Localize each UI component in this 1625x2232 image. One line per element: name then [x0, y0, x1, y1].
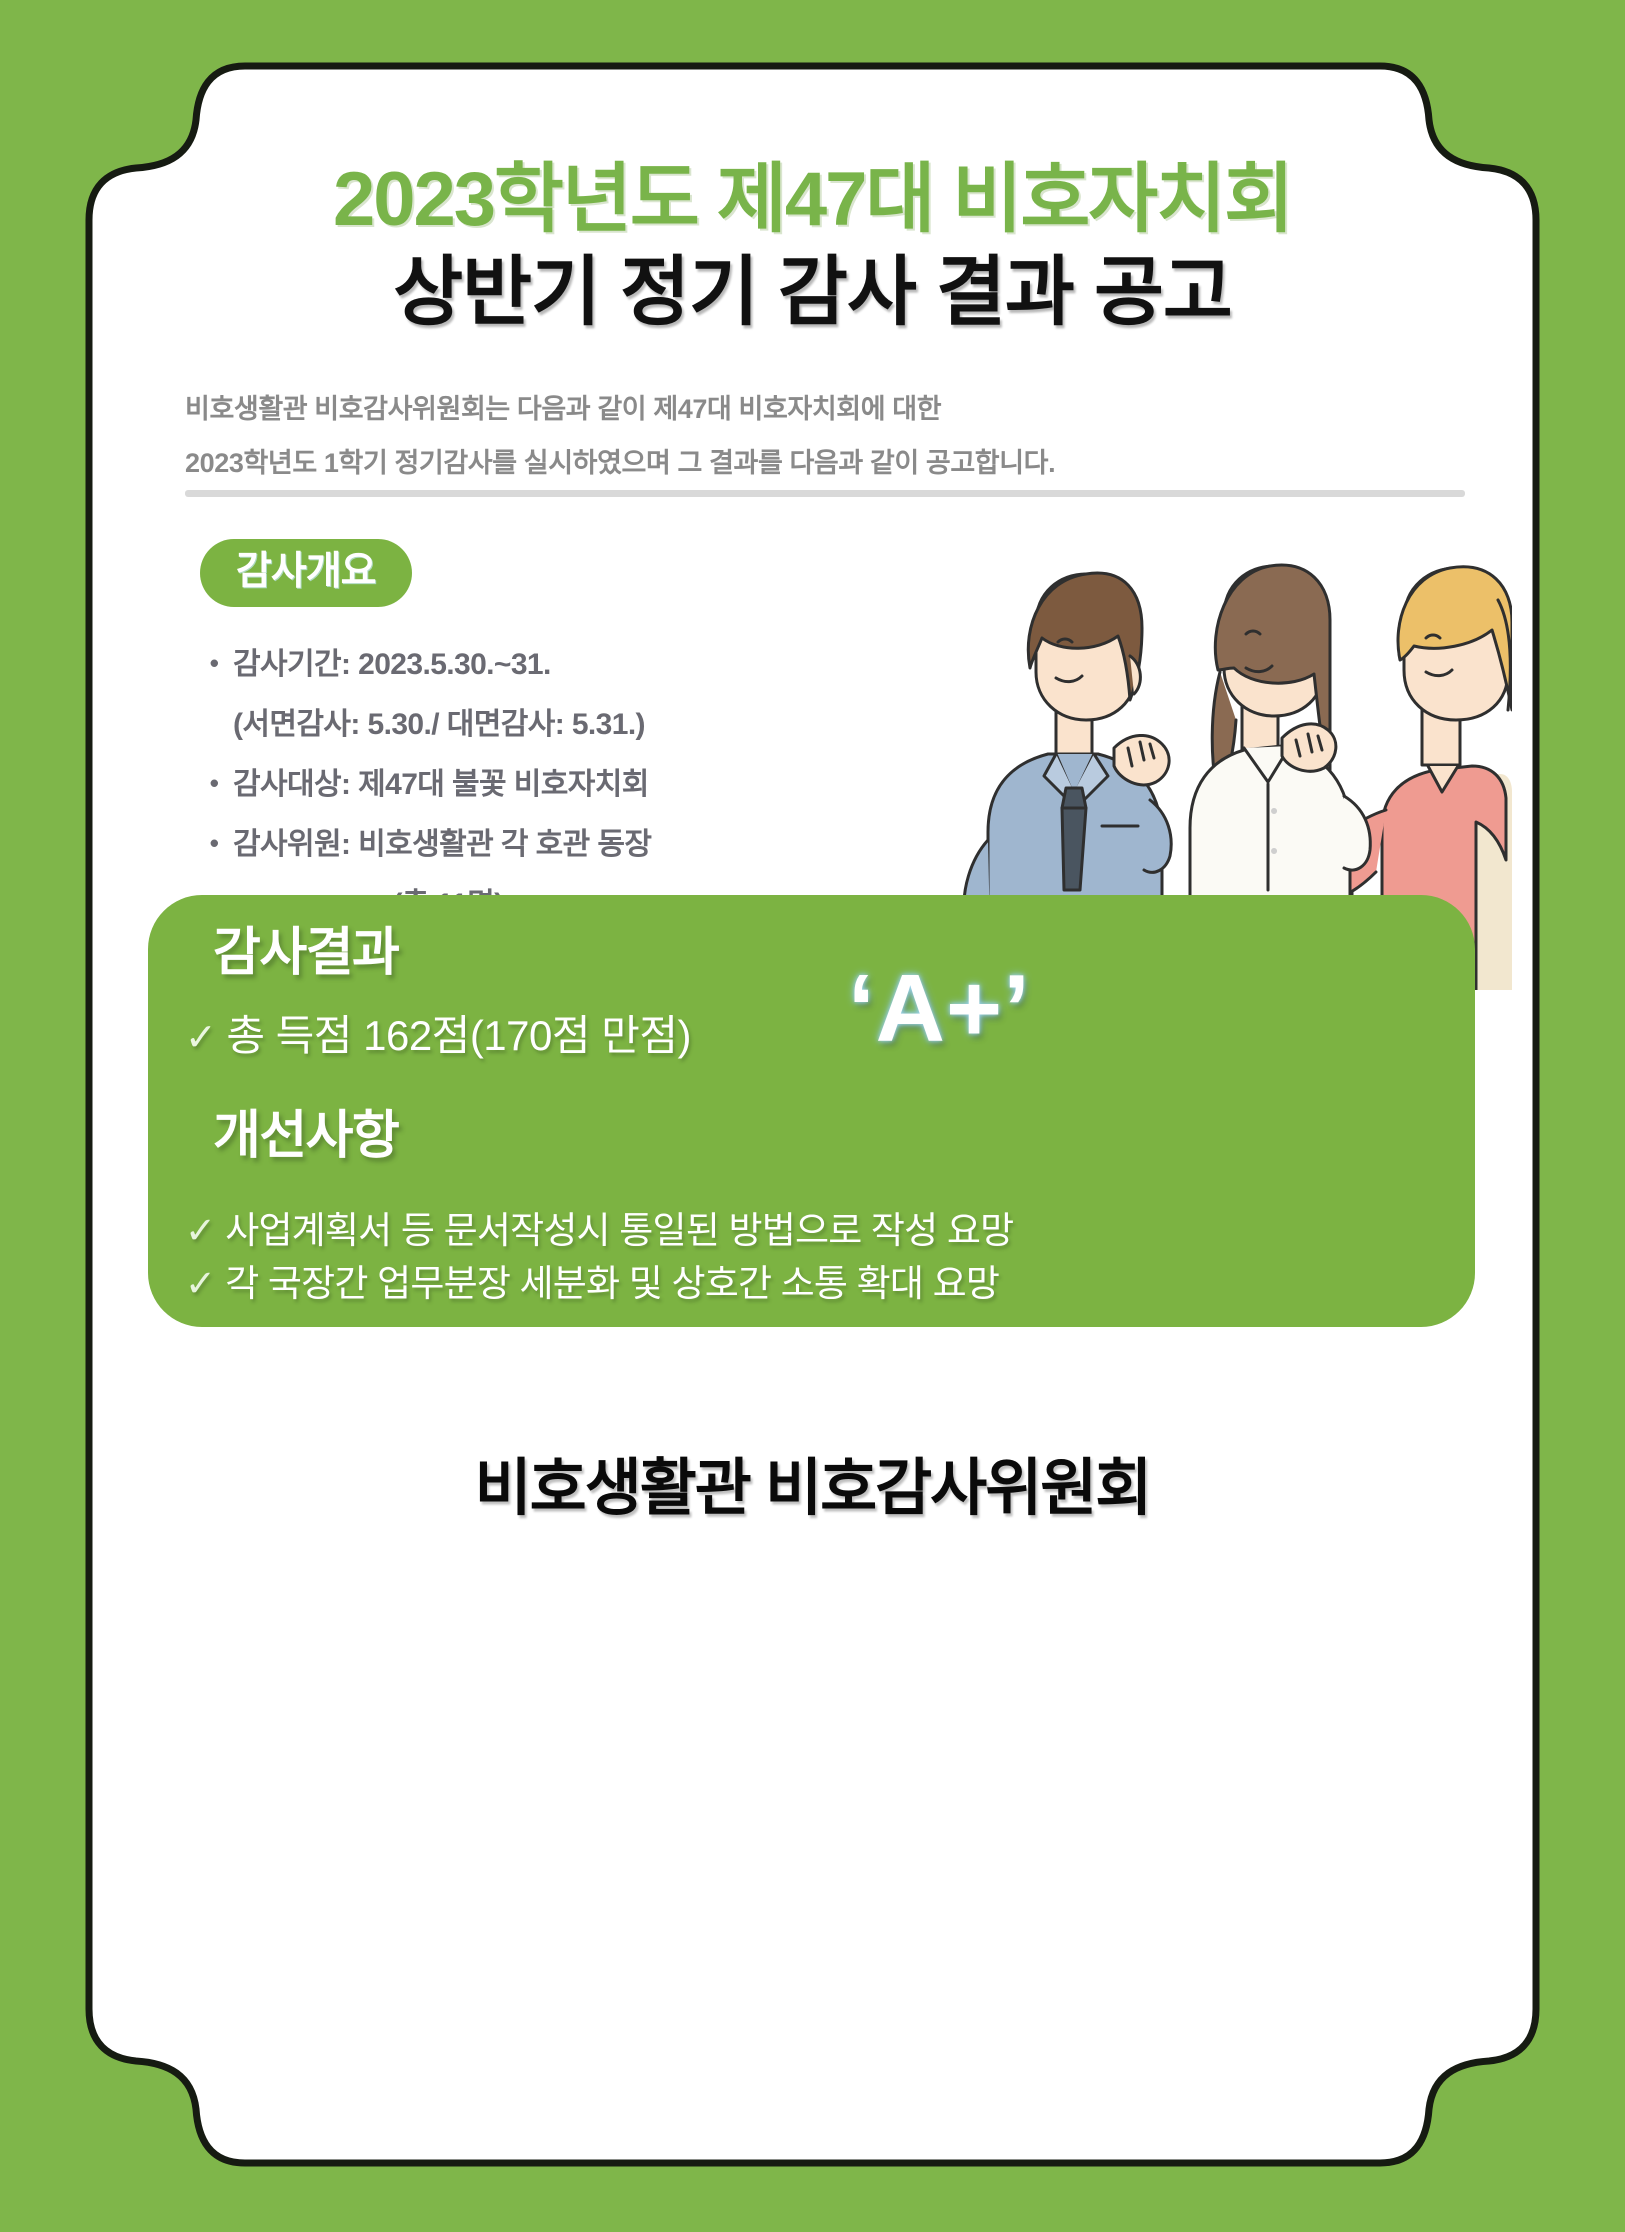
footer-organization: 비호생활관 비호감사위원회	[85, 1437, 1540, 1527]
list-item: ✓각 국장간 업무분장 세분화 및 상호간 소통 확대 요망	[185, 1258, 1445, 1311]
list-item: • 감사위원: 비호생활관 각 호관 동장	[195, 830, 835, 860]
poster-root: 2023학년도 제47대 비호자치회 상반기 정기 감사 결과 공고 비호생활관…	[0, 0, 1625, 2232]
bullet-dot: •	[195, 650, 233, 677]
overview-badge: 감사개요	[200, 539, 412, 607]
title-line-1: 2023학년도 제47대 비호자치회	[85, 157, 1540, 242]
list-item-label: 감사대상: 제47대 불꽃 비호자치회	[233, 770, 835, 800]
bullet-dot: •	[195, 830, 233, 857]
result-card: 감사결과 ✓총 득점 162점(170점 만점) ‘A+’ 개선사항 ✓사업계획…	[148, 895, 1475, 1327]
improvement-title: 개선사항	[213, 1110, 398, 1162]
title-line-2: 상반기 정기 감사 결과 공고	[85, 248, 1540, 338]
list-item-label: 사업계획서 등 문서작성시 통일된 방법으로 작성 요망	[225, 1210, 1013, 1251]
intro-line-2: 2023학년도 1학기 정기감사를 실시하였으며 그 결과를 다음과 같이 공고…	[185, 436, 1465, 490]
list-item-sub: (서면감사: 5.30./ 대면감사: 5.31.)	[233, 710, 835, 740]
list-item: • 감사기간: 2023.5.30.~31.	[195, 650, 835, 680]
improvement-list: ✓사업계획서 등 문서작성시 통일된 방법으로 작성 요망 ✓각 국장간 업무분…	[185, 1205, 1445, 1310]
overview-list: • 감사기간: 2023.5.30.~31. (서면감사: 5.30./ 대면감…	[195, 650, 835, 920]
check-icon: ✓	[185, 1210, 215, 1251]
grade-badge: ‘A+’	[848, 961, 1031, 1057]
check-icon: ✓	[185, 1263, 215, 1304]
page-title: 2023학년도 제47대 비호자치회 상반기 정기 감사 결과 공고	[85, 157, 1540, 338]
bullet-dot: •	[195, 770, 233, 797]
result-score-text: 총 득점 162점(170점 만점)	[226, 1012, 691, 1059]
list-item: • 감사대상: 제47대 불꽃 비호자치회	[195, 770, 835, 800]
list-item: ✓사업계획서 등 문서작성시 통일된 방법으로 작성 요망	[185, 1205, 1445, 1258]
result-title: 감사결과	[213, 927, 398, 979]
list-item-label: 감사위원: 비호생활관 각 호관 동장	[233, 830, 835, 860]
section-divider	[185, 490, 1465, 497]
list-item-label: 각 국장간 업무분장 세분화 및 상호간 소통 확대 요망	[225, 1263, 999, 1304]
intro-paragraph: 비호생활관 비호감사위원회는 다음과 같이 제47대 비호자치회에 대한 202…	[185, 382, 1465, 490]
list-item-label: 감사기간: 2023.5.30.~31.	[233, 650, 835, 680]
check-icon: ✓	[185, 1017, 216, 1059]
intro-line-1: 비호생활관 비호감사위원회는 다음과 같이 제47대 비호자치회에 대한	[185, 382, 1465, 436]
result-score: ✓총 득점 162점(170점 만점)	[185, 1015, 691, 1057]
white-card: 2023학년도 제47대 비호자치회 상반기 정기 감사 결과 공고 비호생활관…	[85, 62, 1540, 2167]
